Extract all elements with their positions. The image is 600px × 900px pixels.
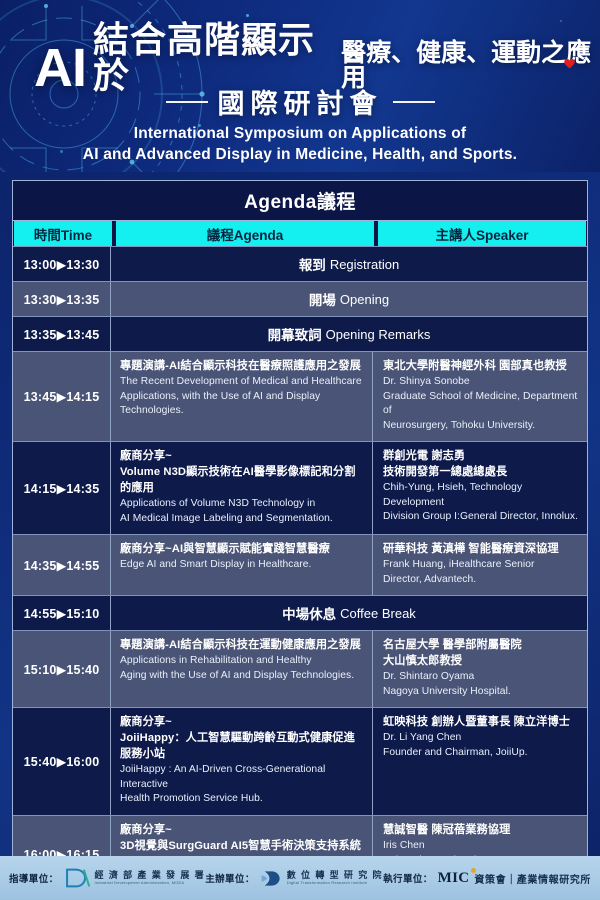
- row-time: 14:35▶14:55: [13, 535, 111, 595]
- column-header-speaker: 主講人Speaker: [378, 221, 586, 246]
- row-time: 13:30▶13:35: [13, 282, 111, 316]
- row-speaker-line: Dr. Shinya Sonobe: [383, 375, 578, 390]
- row-speaker-line: Nagoya University Hospital.: [383, 685, 578, 700]
- org-guidance-label: 指導單位：: [9, 871, 59, 885]
- agenda-column-headers: 時間Time 議程Agenda 主講人Speaker: [13, 221, 587, 246]
- rule-right: [393, 101, 435, 103]
- row-time: 15:10▶15:40: [13, 631, 111, 707]
- row-speaker-line: Frank Huang, iHealthcare Senior: [383, 558, 578, 573]
- row-time: 14:15▶14:35: [13, 442, 111, 534]
- row-speaker-line: 東北大學附醫神經外科 園部真也教授: [383, 359, 578, 375]
- row-session-full: 開場Opening: [111, 282, 587, 316]
- symposium-poster: AI 結合高階顯示於 醫療、健康、運動之應用 國際研討會 Internation…: [0, 0, 600, 900]
- org-guidance-text: 經 濟 部 產 業 發 展 署 Industrial Development A…: [95, 870, 206, 885]
- row-speaker: 東北大學附醫神經外科 園部真也教授Dr. Shinya SonobeGradua…: [373, 352, 587, 441]
- row-speaker-line: Director, Advantech.: [383, 573, 578, 588]
- row-speaker-line: Dr. Shintaro Oyama: [383, 670, 578, 685]
- row-agenda: 專題演講-AI結合顯示科技在運動健康應用之發展Applications in R…: [111, 631, 373, 707]
- row-agenda-line: 廠商分享~: [120, 449, 363, 465]
- mic-dot-accent: [471, 868, 476, 873]
- org-host-text: 數 位 轉 型 研 究 院 Digital Transformation Res…: [287, 870, 383, 885]
- row-session-en: Registration: [330, 257, 399, 272]
- row-speaker-line: Chih-Yung, Hsieh, Technology Development: [383, 481, 578, 510]
- row-session-en: Coffee Break: [340, 606, 416, 621]
- row-session-cn: 報到: [299, 254, 326, 274]
- row-session-cn: 中場休息: [282, 603, 336, 623]
- row-speaker: 名古屋大學 醫學部附屬醫院大山慎太郎教授Dr. Shintaro OyamaNa…: [373, 631, 587, 707]
- table-row: 15:10▶15:40專題演講-AI結合顯示科技在運動健康應用之發展Applic…: [13, 630, 587, 707]
- heart-icon: [563, 57, 576, 69]
- row-speaker-line: 群創光電 謝志勇: [383, 449, 578, 465]
- org-host-label: 主辦單位：: [205, 871, 255, 885]
- row-agenda-line: 廠商分享~AI與智慧顯示賦能實踐智慧醫療: [120, 542, 363, 558]
- agenda-table-title: Agenda議程: [13, 181, 587, 221]
- row-speaker-line: 名古屋大學 醫學部附屬醫院: [383, 638, 578, 654]
- ida-d-logo-icon: [64, 867, 90, 889]
- row-speaker-line: Division Group I:General Director, Innol…: [383, 510, 578, 525]
- row-agenda-line: 專題演講-AI結合顯示科技在運動健康應用之發展: [120, 638, 363, 654]
- row-agenda-line: JoiiHappy：人工智慧驅動跨齡互動式健康促進服務小站: [120, 731, 363, 763]
- sponsor-footer: 指導單位： 經 濟 部 產 業 發 展 署 Industrial Develop…: [0, 856, 600, 900]
- agenda-table: Agenda議程 時間Time 議程Agenda 主講人Speaker 13:0…: [12, 180, 588, 900]
- column-header-agenda: 議程Agenda: [116, 221, 374, 246]
- org-executor-label: 執行單位：: [383, 871, 433, 885]
- row-session-en: Opening Remarks: [326, 327, 431, 342]
- org-executor-name-cn: 資策會｜產業情報研究所: [474, 871, 591, 886]
- hero-subtitle-row: 國際研討會: [0, 82, 600, 121]
- hero-title-en-line1: International Symposium on Applications …: [0, 123, 600, 144]
- row-time: 13:45▶14:15: [13, 352, 111, 441]
- row-agenda-line: 專題演講-AI結合顯示科技在醫療照護應用之發展: [120, 359, 363, 375]
- hero-banner: AI 結合高階顯示於 醫療、健康、運動之應用 國際研討會 Internation…: [0, 0, 600, 172]
- row-speaker-line: 研華科技 黃滇樺 智能醫療資深協理: [383, 542, 578, 558]
- row-speaker-line: 虹映科技 創辦人暨董事長 陳立洋博士: [383, 715, 578, 731]
- row-time: 14:55▶15:10: [13, 596, 111, 630]
- row-speaker: 群創光電 謝志勇技術開發第一總處總處長Chih-Yung, Hsieh, Tec…: [373, 442, 587, 534]
- column-header-time: 時間Time: [14, 221, 112, 246]
- row-agenda-line: Applications, with the Use of AI and Dis…: [120, 390, 363, 405]
- org-executor: 執行單位： MIC 資策會｜產業情報研究所: [383, 870, 591, 887]
- table-row: 13:30▶13:35開場Opening: [13, 281, 587, 316]
- row-agenda-line: 廠商分享~: [120, 823, 363, 839]
- table-row: 15:40▶16:00廠商分享~JoiiHappy：人工智慧驅動跨齡互動式健康促…: [13, 707, 587, 815]
- row-session-cn: 開場: [309, 289, 336, 309]
- row-speaker-line: 大山慎太郎教授: [383, 654, 578, 670]
- table-row: 13:35▶13:45開幕致詞Opening Remarks: [13, 316, 587, 351]
- mic-wordmark-icon: MIC: [438, 870, 470, 887]
- row-speaker-line: 技術開發第一總處總處長: [383, 465, 578, 481]
- row-speaker-line: Iris Chen: [383, 839, 578, 854]
- row-agenda: 專題演講-AI結合顯示科技在醫療照護應用之發展The Recent Develo…: [111, 352, 373, 441]
- row-agenda-line: 3D視覺與SurgGuard AI5智慧手術決策支持系統: [120, 839, 363, 855]
- row-agenda-line: The Recent Development of Medical and He…: [120, 375, 363, 390]
- row-time: 13:00▶13:30: [13, 247, 111, 281]
- row-agenda-line: 廠商分享~: [120, 715, 363, 731]
- row-agenda: 廠商分享~Volume N3D顯示技術在AI醫學影像標記和分割的應用Applic…: [111, 442, 373, 534]
- row-speaker: 虹映科技 創辦人暨董事長 陳立洋博士Dr. Li Yang ChenFounde…: [373, 708, 587, 815]
- row-agenda-line: Health Promotion Service Hub.: [120, 792, 363, 807]
- row-agenda-line: Technologies.: [120, 404, 363, 419]
- table-row: 13:00▶13:30報到Registration: [13, 246, 587, 281]
- row-speaker: 研華科技 黃滇樺 智能醫療資深協理Frank Huang, iHealthcar…: [373, 535, 587, 595]
- row-agenda-line: JoiiHappy : An AI-Driven Cross-Generatio…: [120, 763, 363, 792]
- row-agenda-line: AI Medical Image Labeling and Segmentati…: [120, 512, 363, 527]
- row-session-full: 中場休息Coffee Break: [111, 596, 587, 630]
- org-host-name-en: Digital Transformation Research Institut…: [287, 881, 383, 886]
- row-speaker-line: Neurosurgery, Tohoku University.: [383, 419, 578, 434]
- row-speaker-line: Graduate School of Medicine, Department …: [383, 390, 578, 419]
- row-time: 13:35▶13:45: [13, 317, 111, 351]
- row-agenda-line: Edge AI and Smart Display in Healthcare.: [120, 558, 363, 573]
- row-speaker-line: Dr. Li Yang Chen: [383, 731, 578, 746]
- org-guidance: 指導單位： 經 濟 部 產 業 發 展 署 Industrial Develop…: [9, 867, 205, 889]
- row-session-full: 報到Registration: [111, 247, 587, 281]
- hero-title-en-line2: AI and Advanced Display in Medicine, Hea…: [0, 144, 600, 165]
- row-agenda: 廠商分享~JoiiHappy：人工智慧驅動跨齡互動式健康促進服務小站JoiiHa…: [111, 708, 373, 815]
- hero-title-en: International Symposium on Applications …: [0, 123, 600, 166]
- rule-left: [166, 101, 208, 103]
- dtri-swirl-logo-icon: [260, 868, 282, 889]
- table-row: 13:45▶14:15專題演講-AI結合顯示科技在醫療照護應用之發展The Re…: [13, 351, 587, 441]
- row-time: 15:40▶16:00: [13, 708, 111, 815]
- row-speaker-line: 慧誠智醫 陳冠蓓業務協理: [383, 823, 578, 839]
- row-agenda-line: Applications in Rehabilitation and Healt…: [120, 654, 363, 669]
- hero-subtitle-cn: 國際研討會: [218, 82, 383, 121]
- row-agenda-line: Volume N3D顯示技術在AI醫學影像標記和分割的應用: [120, 465, 363, 497]
- row-agenda-line: Aging with the Use of AI and Display Tec…: [120, 669, 363, 684]
- row-agenda-line: Applications of Volume N3D Technology in: [120, 497, 363, 512]
- row-session-full: 開幕致詞Opening Remarks: [111, 317, 587, 351]
- org-host: 主辦單位： 數 位 轉 型 研 究 院 Digital Transformati…: [205, 868, 383, 889]
- row-session-cn: 開幕致詞: [268, 324, 322, 344]
- row-speaker-line: Founder and Chairman, JoiiUp.: [383, 746, 578, 761]
- org-guidance-name-en: Industrial Development Administration, M…: [95, 881, 206, 886]
- agenda-rows: 13:00▶13:30報到Registration13:30▶13:35開場Op…: [13, 246, 587, 900]
- table-row: 14:15▶14:35廠商分享~Volume N3D顯示技術在AI醫學影像標記和…: [13, 441, 587, 534]
- row-agenda: 廠商分享~AI與智慧顯示賦能實踐智慧醫療Edge AI and Smart Di…: [111, 535, 373, 595]
- table-row: 14:55▶15:10中場休息Coffee Break: [13, 595, 587, 630]
- row-session-en: Opening: [340, 292, 389, 307]
- table-row: 14:35▶14:55廠商分享~AI與智慧顯示賦能實踐智慧醫療Edge AI a…: [13, 534, 587, 595]
